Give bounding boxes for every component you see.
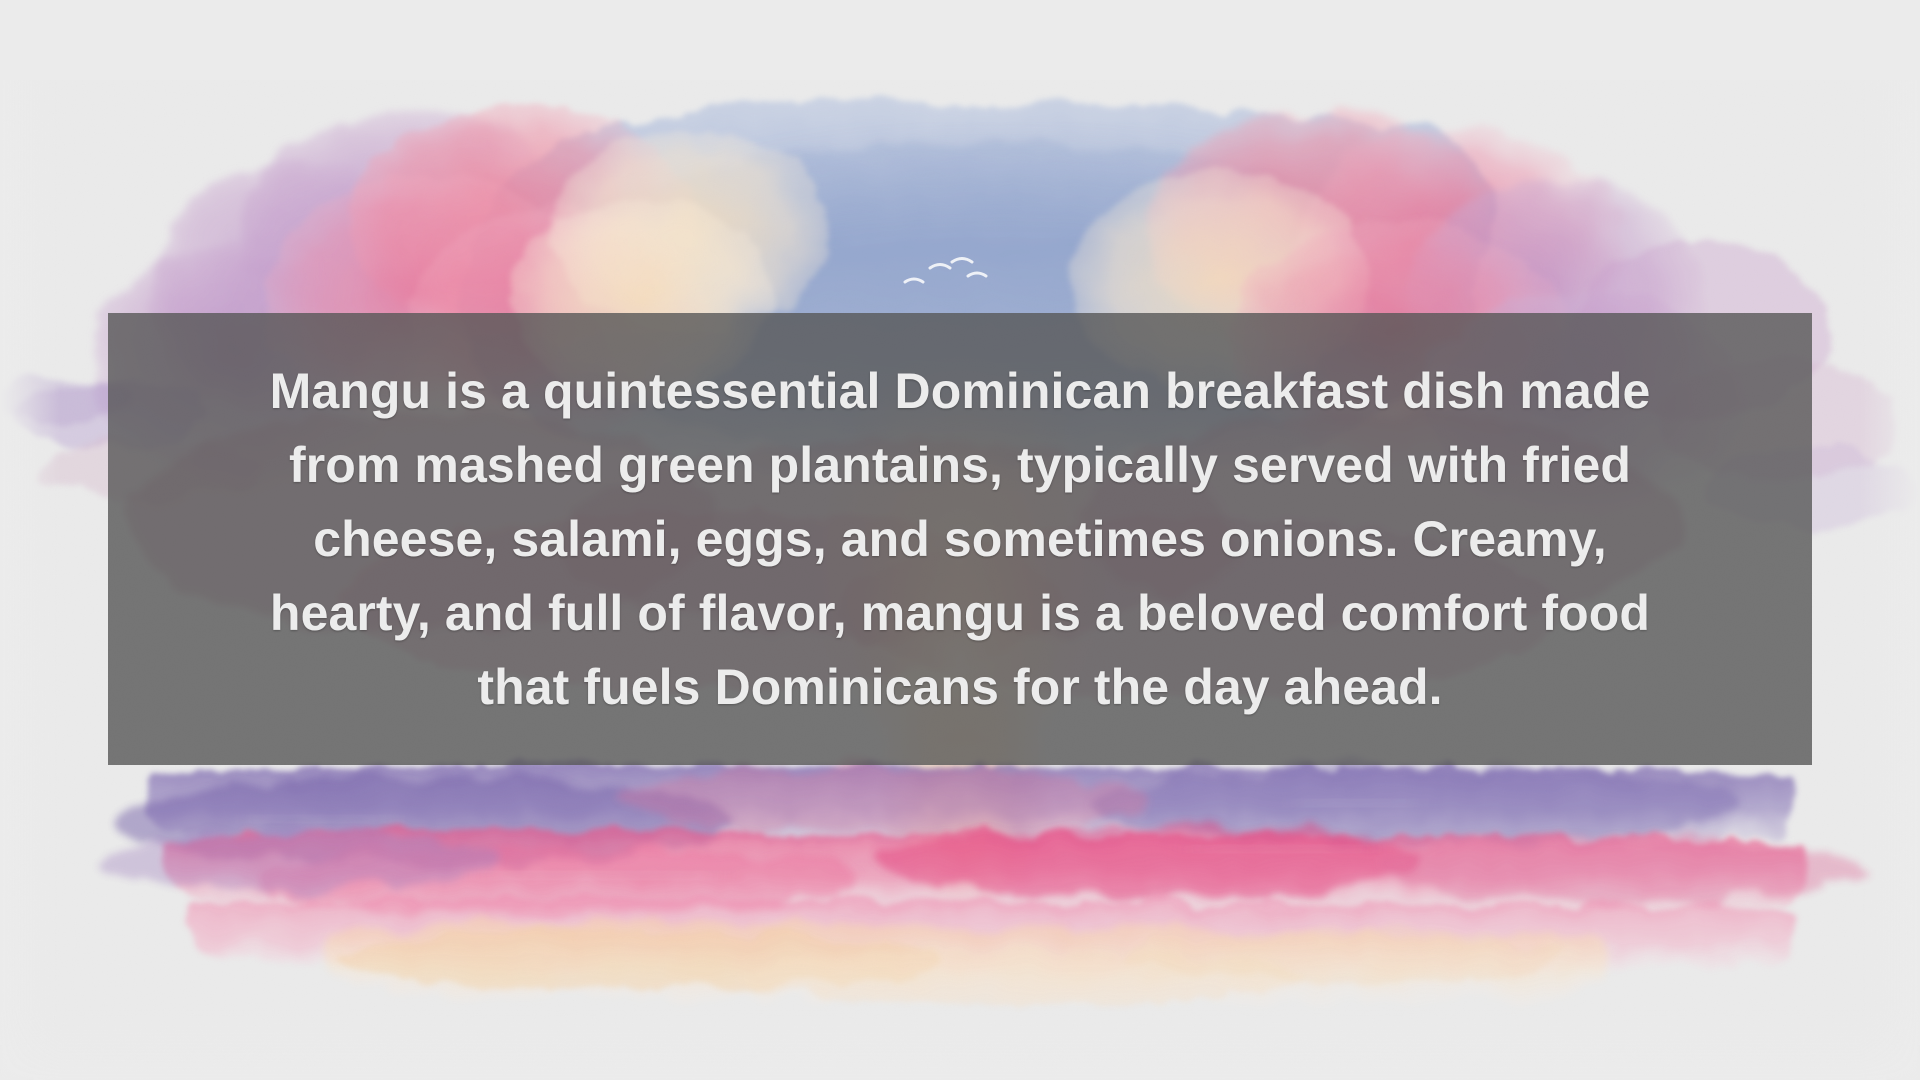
- caption-line-3: cheese, salami, eggs, and sometimes onio…: [122, 502, 1798, 576]
- mangu-description-caption: Mangu is a quintessential Dominican brea…: [108, 313, 1812, 765]
- caption-line-4: hearty, and full of flavor, mangu is a b…: [122, 576, 1798, 650]
- caption-line-1: Mangu is a quintessential Dominican brea…: [122, 354, 1798, 428]
- screenshot-stage: Mangu is a quintessential Dominican brea…: [0, 0, 1920, 1080]
- caption-line-2: from mashed green plantains, typically s…: [122, 428, 1798, 502]
- caption-line-5: that fuels Dominicans for the day ahead.: [122, 650, 1798, 724]
